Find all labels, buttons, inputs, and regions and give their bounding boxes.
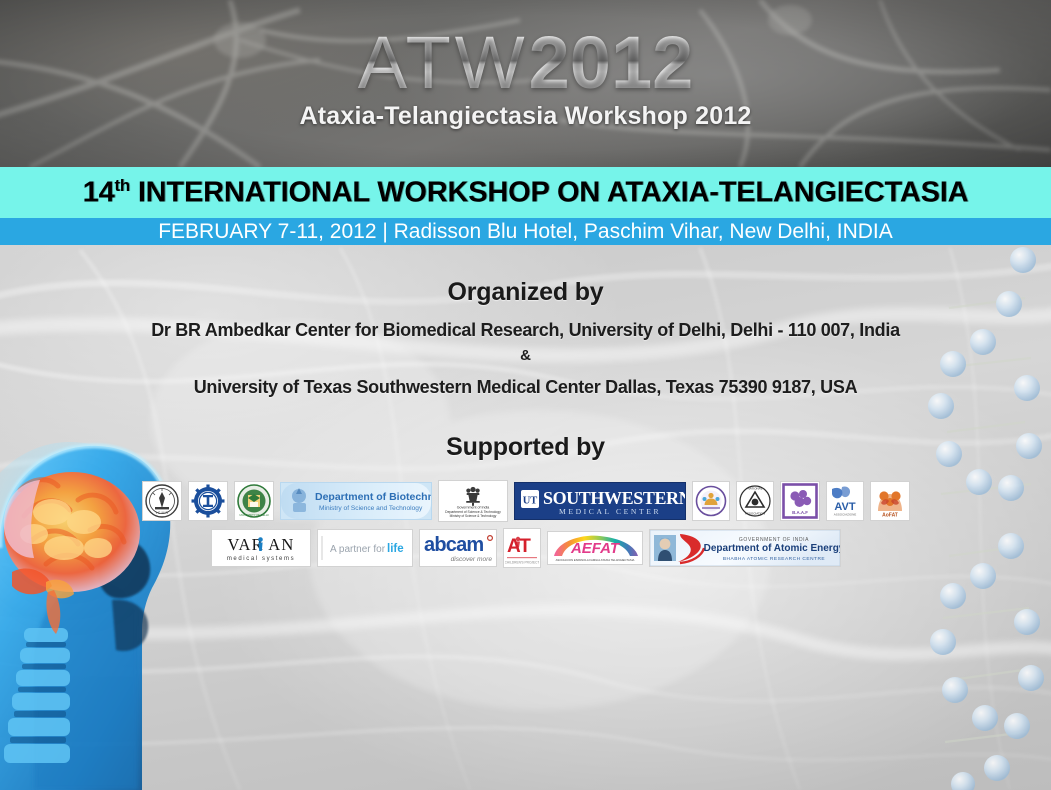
purple-badge-label: B.A.A.F (792, 510, 808, 515)
organizer-line-1: Dr BR Ambedkar Center for Biomedical Res… (0, 320, 1051, 341)
organized-by-heading: Organized by (0, 278, 1051, 307)
workshop-title-bar: 14th INTERNATIONAL WORKSHOP ON ATAXIA-TE… (0, 167, 1051, 218)
bhabha-portrait (654, 535, 676, 561)
abcam-wordmark: abcam (424, 534, 483, 556)
sponsor-logo-a-partner-for-life[interactable]: A partner for life (317, 529, 413, 567)
atw-logo-acronym: ATW (358, 21, 529, 104)
sponsor-logo-at-childrens-project[interactable]: AT CHILDREN'S PROJECT (503, 528, 541, 568)
organizer-line-2: University of Texas Southwestern Medical… (0, 377, 1051, 398)
sponsor-logo-department-of-atomic-energy[interactable]: GOVERNMENT OF INDIA Department of Atomic… (649, 529, 841, 567)
sponsor-logo-icmr-seal[interactable]: I C M R (142, 481, 182, 521)
dbt-title-text: Department of Biotechnology (315, 491, 431, 503)
atw-logo-text: ATW2012 (358, 26, 694, 100)
assoc-bottom-label: ASSOCIATION (744, 512, 764, 516)
aofat-wordmark: AoFAT (882, 513, 898, 519)
dst-line-3: Ministry of Science & Technology (449, 514, 496, 518)
avt-sub: ASSOCIAZIONE (833, 513, 856, 517)
workshop-number: 14 (83, 176, 115, 208)
sponsor-logo-national-association[interactable]: NATIONAL ASSOCIATION (736, 481, 774, 521)
sponsor-logo-department-of-biotechnology[interactable]: Department of Biotechnology Ministry of … (280, 482, 432, 520)
conference-poster: ATW2012 Ataxia-Telangiectasia Workshop 2… (0, 0, 1051, 790)
workshop-title-text: 14th INTERNATIONAL WORKSHOP ON ATAXIA-TE… (83, 176, 969, 210)
workshop-dates-venue-bar: FEBRUARY 7-11, 2012 | Radisson Blu Hotel… (0, 218, 1051, 245)
dst-line-1: Government of India (456, 506, 489, 510)
sponsor-logos: I C M R (0, 480, 1051, 568)
sponsor-logo-aofat[interactable]: AoFAT (870, 481, 910, 521)
sponsor-logo-department-of-science-and-technology[interactable]: Government of India Department of Scienc… (438, 480, 508, 522)
abcam-tagline: discover more (450, 556, 492, 563)
sponsor-logo-association-1[interactable] (692, 481, 730, 521)
ut-monogram: UT (522, 496, 537, 507)
sponsor-logo-csir-gear-seal[interactable] (188, 481, 228, 521)
sponsor-row-2: VAR AN medical systems A partner for (0, 528, 1051, 568)
sponsor-logo-aefat[interactable]: AEFAT ASOCIACION ESPANOLA FAMILIA ATAXIA… (547, 531, 643, 565)
dae-line-3: BHABHA ATOMIC RESEARCH CENTRE (722, 556, 824, 562)
atw-logo-year: 2012 (529, 21, 694, 104)
varian-tagline: medical systems (226, 556, 294, 562)
at-sub: CHILDREN'S PROJECT (505, 561, 539, 565)
du-seal-label: UNIVERSITY OF DELHI (239, 513, 268, 517)
organizer-conjunction: & (0, 347, 1051, 364)
aefat-wordmark: AEFAT (569, 540, 620, 557)
workshop-ordinal: th (115, 176, 130, 195)
ut-medical-center-text: MEDICAL CENTER (559, 507, 661, 516)
assoc-top-label: NATIONAL (747, 487, 762, 491)
supported-by-heading: Supported by (0, 433, 1051, 462)
workshop-dates-venue-text: FEBRUARY 7-11, 2012 | Radisson Blu Hotel… (158, 220, 893, 244)
avt-wordmark: AVT (834, 501, 855, 513)
sponsor-logo-purple-badge[interactable]: B.A.A.F (780, 481, 820, 521)
sponsor-logo-university-of-delhi-seal[interactable]: UNIVERSITY OF DELHI (234, 481, 274, 521)
aefat-sub: ASOCIACION ESPANOLA FAMILIA ATAXIA TELAN… (555, 558, 634, 562)
partner-text: A partner for (330, 544, 386, 555)
workshop-title-remainder: INTERNATIONAL WORKSHOP ON ATAXIA-TELANGI… (130, 176, 968, 208)
atw-logo-subtitle: Ataxia-Telangiectasia Workshop 2012 (0, 102, 1051, 131)
dae-line-2: Department of Atomic Energy (703, 543, 839, 554)
event-logo-block: ATW2012 Ataxia-Telangiectasia Workshop 2… (0, 26, 1051, 131)
sponsor-logo-ut-southwestern-medical-center[interactable]: UT SOUTHWESTERN MEDICAL CENTER (514, 482, 686, 520)
ut-southwestern-wordmark: SOUTHWESTERN (543, 488, 685, 508)
sponsor-row-1: I C M R (0, 480, 1051, 522)
sponsor-logo-avt[interactable]: AVT ASSOCIAZIONE (826, 481, 864, 521)
sponsor-logo-varian-medical-systems[interactable]: VAR AN medical systems (211, 529, 311, 567)
sponsor-logo-abcam[interactable]: abcam discover more (419, 529, 497, 567)
partner-life-text: life (387, 543, 404, 555)
icmr-seal-label: I C M R (155, 511, 168, 515)
poster-body: Organized by Dr BR Ambedkar Center for B… (0, 245, 1051, 568)
dbt-subtitle-text: Ministry of Science and Technology (319, 505, 423, 512)
